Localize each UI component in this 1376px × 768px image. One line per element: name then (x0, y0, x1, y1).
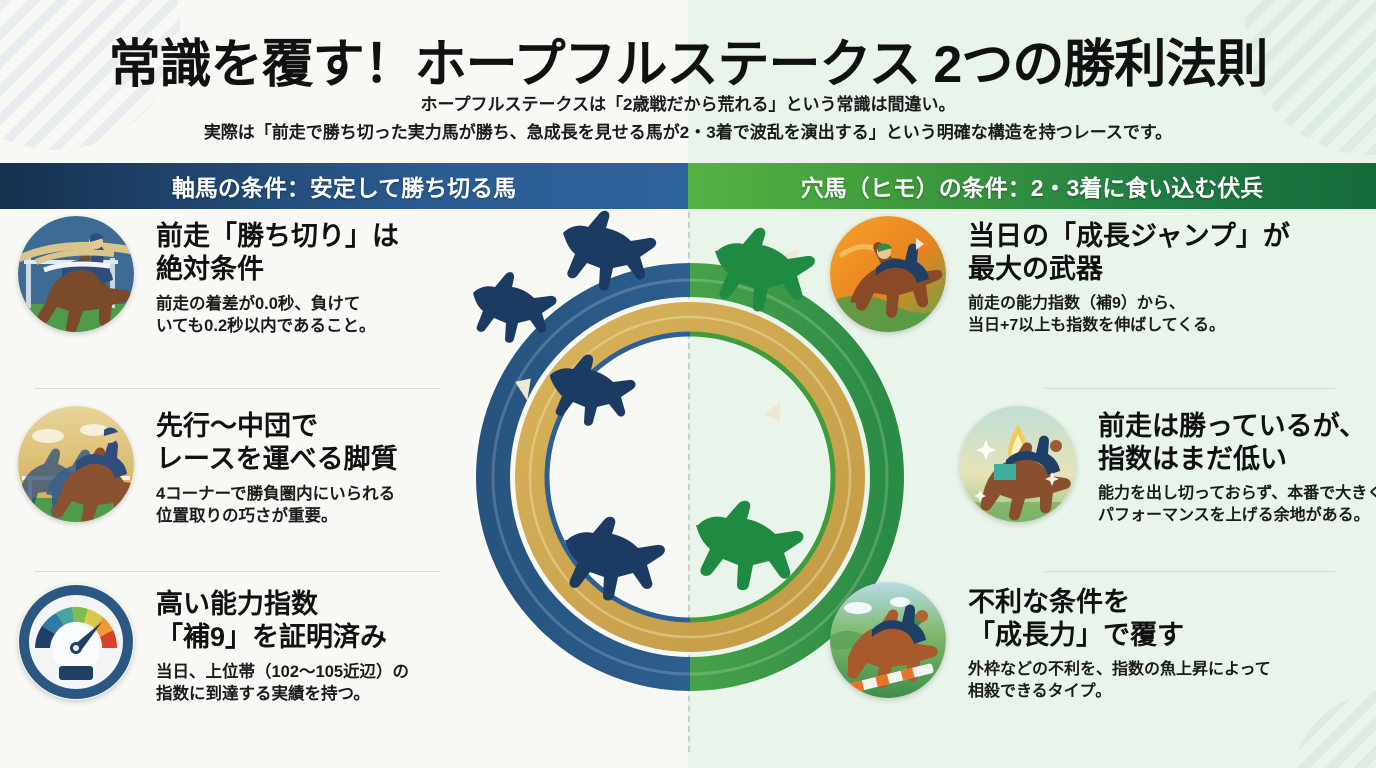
left-item-2-heading-line2: レースを運べる脚質 (156, 443, 398, 476)
right-item-2-heading-line2: 指数はまだ低い (1098, 443, 1376, 476)
left-item-1-body-line1: 前走の着差が0.0秒、負けて (156, 293, 399, 315)
right-item-1-body-line1: 前走の能力指数（補9）から、 (968, 293, 1290, 315)
right-item-2-icon-wrap (960, 406, 1076, 522)
page-title: 常識を覆す！ホープフルステークス 2つの勝利法則 (0, 22, 1376, 97)
right-item-2-texts: 前走は勝っているが、 指数はまだ低い 能力を出し切っておらず、本番で大きく パフ… (1098, 406, 1376, 526)
right-column: 当日の「成長ジャンプ」が 最大の武器 前走の能力指数（補9）から、 当日+7以上… (830, 216, 1300, 756)
left-item-2-texts: 先行〜中団で レースを運べる脚質 4コーナーで勝負圏内にいられる 位置取りの巧さ… (156, 406, 398, 528)
header: 常識を覆す！ホープフルステークス 2つの勝利法則 ホープフルステークスは「2歳戦… (0, 0, 1376, 160)
right-item-3-body-line1: 外枠などの不利を、指数の魚上昇によって (968, 659, 1271, 681)
right-item-2-body-line2: パフォーマンスを上げる余地がある。 (1098, 505, 1376, 527)
banner-left-label: 軸馬の条件：安定して勝ち切る馬 (0, 163, 688, 209)
left-item-2-body-line2: 位置取りの巧さが重要。 (156, 505, 398, 527)
right-item-2[interactable]: 前走は勝っているが、 指数はまだ低い 能力を出し切っておらず、本番で大きく パフ… (960, 406, 1376, 526)
right-item-1-heading-line2: 最大の武器 (968, 253, 1290, 286)
jumping-horse-sunrise-icon (830, 216, 946, 332)
horse-pack-gold-icon (18, 406, 134, 522)
left-item-3[interactable]: 高い能力指数 「補9」を証明済み 当日、上位帯（102〜105近辺）の 指数に到… (18, 584, 409, 706)
right-item-3-body-line2: 相殺できるタイプ。 (968, 681, 1271, 703)
left-item-3-body-line2: 指数に到達する実績を持つ。 (156, 683, 409, 705)
subtitle-line-1: ホープフルステークスは「2歳戦だから荒れる」という常識は間違い。 (0, 90, 1376, 115)
right-divider-1 (1045, 388, 1335, 389)
left-item-1-body-line2: いても0.2秒以内であること。 (156, 315, 399, 337)
left-divider-2 (35, 571, 440, 572)
section-banner: 軸馬の条件：安定して勝ち切る馬 穴馬（ヒモ）の条件：2・3着に食い込む伏兵 (0, 163, 1376, 209)
banner-right-label: 穴馬（ヒモ）の条件：2・3着に食い込む伏兵 (688, 163, 1376, 209)
left-item-3-texts: 高い能力指数 「補9」を証明済み 当日、上位帯（102〜105近辺）の 指数に到… (156, 584, 409, 706)
left-item-3-icon-wrap (18, 584, 134, 700)
subtitle-line-2: 実際は「前走で勝ち切った実力馬が勝ち、急成長を見せる馬が2・3着で波乱を演出する… (0, 118, 1376, 143)
galloping-horse-blue-icon (18, 216, 134, 332)
left-item-2[interactable]: 先行〜中団で レースを運べる脚質 4コーナーで勝負圏内にいられる 位置取りの巧さ… (18, 406, 398, 528)
right-item-1-heading-line1: 当日の「成長ジャンプ」が (968, 220, 1290, 253)
right-item-3-heading-line2: 「成長力」で覆す (968, 619, 1271, 652)
infographic-canvas: 常識を覆す！ホープフルステークス 2つの勝利法則 ホープフルステークスは「2歳戦… (0, 0, 1376, 768)
left-item-3-heading-line2: 「補9」を証明済み (156, 621, 409, 654)
horse-jumping-hurdle-icon (830, 582, 946, 698)
left-item-1-icon-wrap (18, 216, 134, 332)
right-item-3-texts: 不利な条件を 「成長力」で覆す 外枠などの不利を、指数の魚上昇によって 相殺でき… (968, 582, 1271, 702)
right-item-2-heading-line1: 前走は勝っているが、 (1098, 410, 1376, 443)
right-item-2-body-line1: 能力を出し切っておらず、本番で大きく (1098, 483, 1376, 505)
left-item-3-body-line1: 当日、上位帯（102〜105近辺）の (156, 661, 409, 683)
sparkling-horse-icon (960, 406, 1076, 522)
left-item-2-heading-line1: 先行〜中団で (156, 410, 398, 443)
right-item-1-texts: 当日の「成長ジャンプ」が 最大の武器 前走の能力指数（補9）から、 当日+7以上… (968, 216, 1290, 336)
left-item-1-texts: 前走「勝ち切り」は 絶対条件 前走の着差が0.0秒、負けて いても0.2秒以内で… (156, 216, 399, 338)
left-item-1[interactable]: 前走「勝ち切り」は 絶対条件 前走の着差が0.0秒、負けて いても0.2秒以内で… (18, 216, 399, 338)
left-item-2-icon-wrap (18, 406, 134, 522)
right-item-3-icon-wrap (830, 582, 946, 698)
right-item-3[interactable]: 不利な条件を 「成長力」で覆す 外枠などの不利を、指数の魚上昇によって 相殺でき… (830, 582, 1271, 702)
left-item-2-body-line1: 4コーナーで勝負圏内にいられる (156, 483, 398, 505)
left-item-1-heading-line2: 絶対条件 (156, 253, 399, 286)
right-item-3-heading-line1: 不利な条件を (968, 586, 1271, 619)
right-item-1[interactable]: 当日の「成長ジャンプ」が 最大の武器 前走の能力指数（補9）から、 当日+7以上… (830, 216, 1290, 336)
right-item-1-icon-wrap (830, 216, 946, 332)
left-column: 前走「勝ち切り」は 絶対条件 前走の着差が0.0秒、負けて いても0.2秒以内で… (18, 216, 488, 756)
left-item-1-heading-line1: 前走「勝ち切り」は (156, 220, 399, 253)
right-divider-2 (1045, 571, 1335, 572)
left-item-3-heading-line1: 高い能力指数 (156, 588, 409, 621)
right-item-1-body-line2: 当日+7以上も指数を伸ばしてくる。 (968, 315, 1290, 337)
speed-gauge-icon (18, 584, 134, 700)
left-divider-1 (35, 388, 440, 389)
